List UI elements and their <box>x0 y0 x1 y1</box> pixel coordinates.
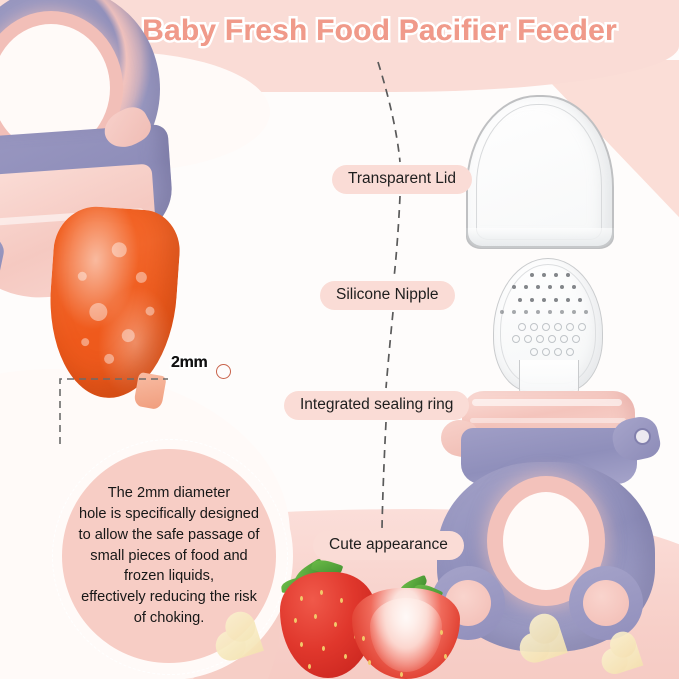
feeder-handle-hole <box>503 492 589 590</box>
label-silicone-nipple[interactable]: Silicone Nipple <box>320 281 455 310</box>
nipple-hole <box>536 310 540 314</box>
nipple-hole <box>566 273 570 277</box>
nipple-hole <box>566 298 570 302</box>
measurement-label: 2mm <box>171 354 207 372</box>
nipple-hole <box>542 323 550 331</box>
nipple-hole <box>572 335 580 343</box>
info-circle-line: effectively reducing the risk <box>64 587 274 608</box>
label-transparent-lid[interactable]: Transparent Lid <box>332 165 472 194</box>
nipple-hole <box>578 323 586 331</box>
nipple-hole <box>512 285 516 289</box>
nipple-hole <box>542 273 546 277</box>
nipple-hole <box>518 298 522 302</box>
nipple-hole <box>536 285 540 289</box>
nipple-hole <box>518 323 526 331</box>
infographic-canvas: Baby Fresh Food Pacifier Feeder Baby Fre… <box>0 0 679 679</box>
nipple-hole <box>572 285 576 289</box>
nipple-hole <box>548 335 556 343</box>
nipple-hole <box>530 273 534 277</box>
nipple-hole <box>554 323 562 331</box>
nipple-hole <box>542 348 550 356</box>
nipple-hole <box>560 310 564 314</box>
silicone-nipple-filled-orange <box>44 204 183 402</box>
nipple-hole <box>512 335 520 343</box>
info-circle-line: small pieces of food and <box>64 546 274 567</box>
nipple-hole <box>524 285 528 289</box>
nipple-hole <box>584 310 588 314</box>
feeder-foot-pad-right <box>583 580 629 626</box>
nipple-hole <box>530 323 538 331</box>
nipple-hole <box>524 335 532 343</box>
info-circle-line: hole is specifically designed <box>64 504 274 525</box>
nipple-hole <box>578 298 582 302</box>
nipple-tip-stub <box>133 372 166 410</box>
label-cute-appearance[interactable]: Cute appearance <box>313 531 464 560</box>
nipple-hole <box>566 323 574 331</box>
nipple-hole <box>566 348 574 356</box>
nipple-hole <box>524 310 528 314</box>
sealing-ring-highlight-bottom <box>470 418 626 423</box>
sealing-ring-highlight-top <box>472 399 622 406</box>
nipple-hole <box>554 298 558 302</box>
nipple-hole <box>530 298 534 302</box>
info-circle-text: The 2mm diameterhole is specifically des… <box>62 483 276 628</box>
nipple-hole <box>554 348 562 356</box>
nipple-hole-marker <box>216 364 231 379</box>
nipple-hole <box>512 310 516 314</box>
transparent-lid-rim <box>466 228 614 248</box>
nipple-hole <box>530 348 538 356</box>
nipple-hole <box>548 310 552 314</box>
info-circle-line: frozen liquids, <box>64 566 274 587</box>
nipple-hole <box>548 285 552 289</box>
nipple-hole <box>554 273 558 277</box>
info-circle-line: to allow the safe passage of <box>64 525 274 546</box>
feeder-body-clip-hole <box>634 428 651 445</box>
nipple-hole <box>572 310 576 314</box>
nipple-hole <box>560 285 564 289</box>
nipple-hole <box>560 335 568 343</box>
info-circle-line: The 2mm diameter <box>64 483 274 504</box>
nipple-hole <box>542 298 546 302</box>
label-integrated-sealing-ring[interactable]: Integrated sealing ring <box>284 391 469 420</box>
nipple-hole <box>536 335 544 343</box>
nipple-hole <box>500 310 504 314</box>
